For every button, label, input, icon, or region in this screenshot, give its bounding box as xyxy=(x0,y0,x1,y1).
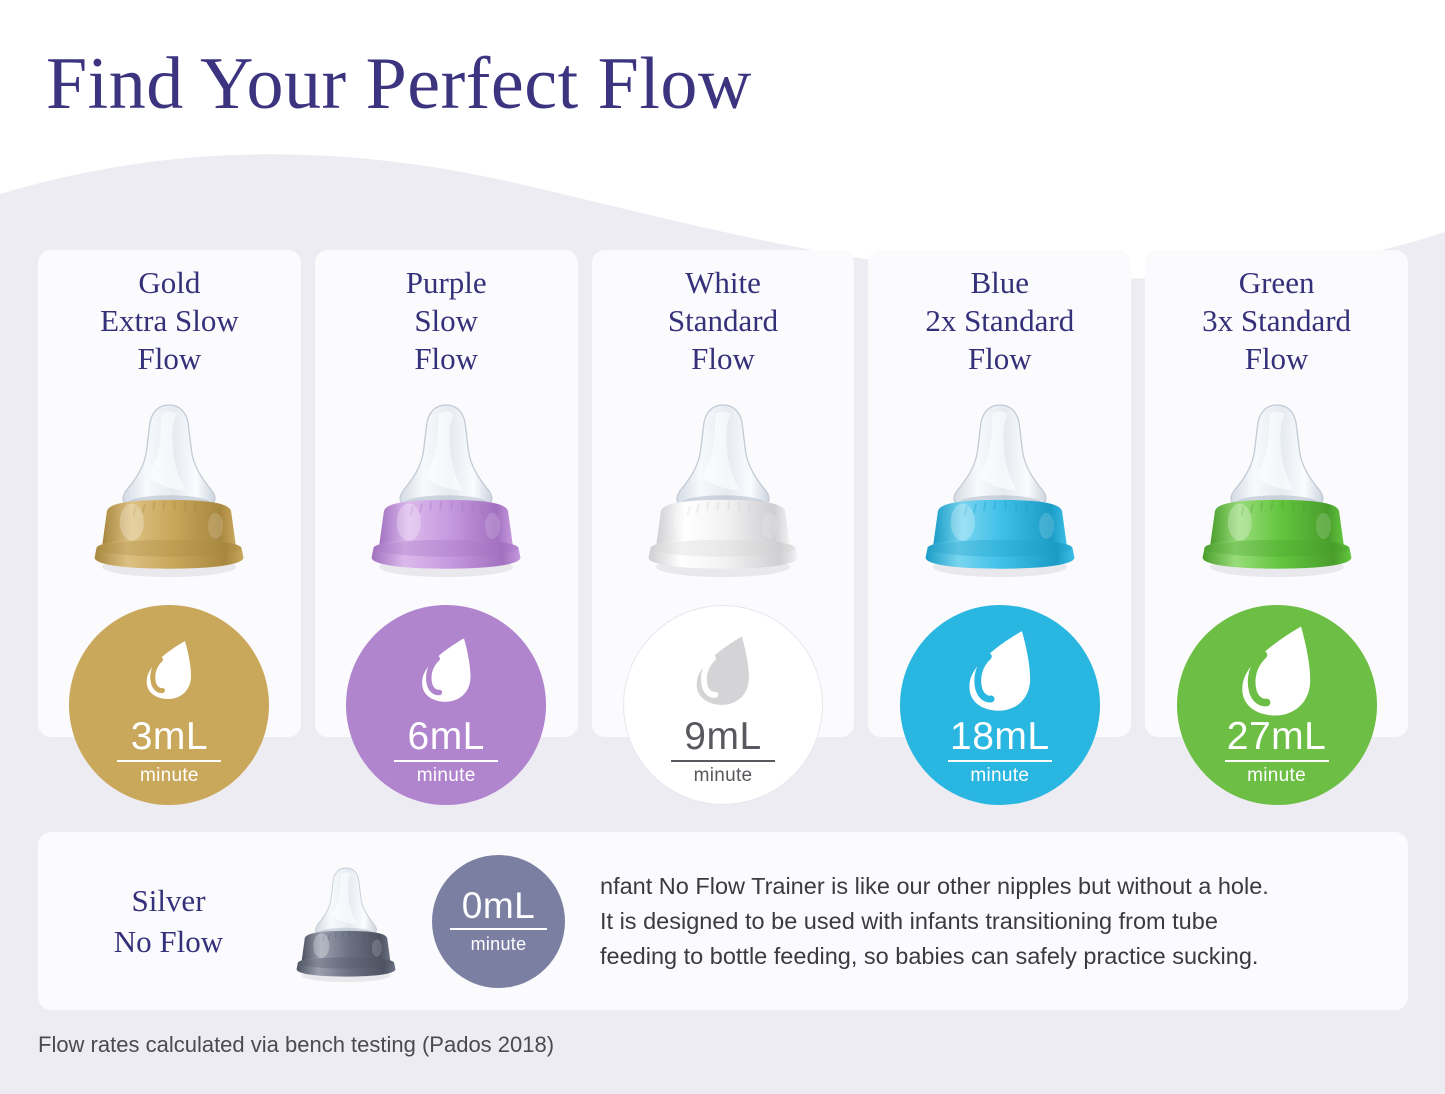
rate-value: 0mL xyxy=(462,887,535,925)
droplet-holder xyxy=(142,623,196,715)
flow-card-purple[interactable]: Purple Slow Flow xyxy=(315,250,578,737)
rate-badge: 3mLminute xyxy=(38,605,301,805)
rate-badge: 27mLminute xyxy=(1145,605,1408,805)
nipple-image-wrap xyxy=(315,390,578,580)
nipple-image xyxy=(76,390,262,580)
footnote: Flow rates calculated via bench testing … xyxy=(38,1032,554,1058)
silver-label: Silver No Flow xyxy=(66,880,271,962)
droplet-icon xyxy=(417,635,476,703)
flow-card-title: Gold Extra Slow Flow xyxy=(100,264,239,378)
rate-value: 27mL xyxy=(1227,717,1327,757)
nipple-image xyxy=(630,390,816,580)
nipple-image xyxy=(353,390,539,580)
flow-card-title: Purple Slow Flow xyxy=(406,264,487,378)
flow-card-gold[interactable]: Gold Extra Slow Flow xyxy=(38,250,301,737)
rate-badge: 6mLminute xyxy=(315,605,578,805)
flow-card-blue[interactable]: Blue 2x Standard Flow xyxy=(868,250,1131,737)
rate-value: 6mL xyxy=(408,717,485,757)
rate-circle-silver: 0mL minute xyxy=(432,855,565,988)
droplet-icon xyxy=(142,638,196,700)
nipple-image xyxy=(284,858,408,984)
rate-value: 9mL xyxy=(684,717,761,757)
droplet-holder xyxy=(691,623,755,715)
rate-divider xyxy=(117,760,221,762)
droplet-holder xyxy=(1235,623,1318,715)
nipple-image-wrap xyxy=(1145,390,1408,580)
nipple-image xyxy=(1184,390,1370,580)
droplet-holder xyxy=(963,623,1037,715)
rate-divider xyxy=(1225,760,1329,762)
rate-divider xyxy=(671,760,775,762)
rate-circle-purple: 6mLminute xyxy=(346,605,546,805)
flow-cards-row: Gold Extra Slow Flow xyxy=(38,250,1408,737)
rate-circle-green: 27mLminute xyxy=(1177,605,1377,805)
flow-card-title: Blue 2x Standard Flow xyxy=(925,264,1074,378)
no-flow-panel: Silver No Flow xyxy=(38,832,1408,1010)
silver-rate-badge: 0mL minute xyxy=(421,855,576,988)
rate-circle-gold: 3mLminute xyxy=(69,605,269,805)
nipple-image-wrap xyxy=(38,390,301,580)
rate-unit: minute xyxy=(417,765,476,787)
rate-divider xyxy=(394,760,498,762)
nipple-image-wrap xyxy=(868,390,1131,580)
rate-value: 3mL xyxy=(131,717,208,757)
rate-unit: minute xyxy=(970,765,1029,787)
rate-circle-white: 9mLminute xyxy=(623,605,823,805)
flow-card-white[interactable]: White Standard Flow xyxy=(592,250,855,737)
rate-divider xyxy=(450,928,547,930)
silver-nipple-image xyxy=(271,858,421,984)
flow-card-title: Green 3x Standard Flow xyxy=(1202,264,1351,378)
rate-value: 18mL xyxy=(950,717,1050,757)
rate-unit: minute xyxy=(471,933,527,955)
rate-unit: minute xyxy=(140,765,199,787)
rate-badge: 9mLminute xyxy=(592,605,855,805)
rate-circle-blue: 18mLminute xyxy=(900,605,1100,805)
flow-card-green[interactable]: Green 3x Standard Flow xyxy=(1145,250,1408,737)
no-flow-description: nfant No Flow Trainer is like our other … xyxy=(600,869,1378,974)
droplet-holder xyxy=(417,623,476,715)
rate-unit: minute xyxy=(694,765,753,787)
droplet-icon xyxy=(691,633,755,706)
rate-badge: 18mLminute xyxy=(868,605,1131,805)
flow-card-title: White Standard Flow xyxy=(668,264,778,378)
nipple-image-wrap xyxy=(592,390,855,580)
nipple-image xyxy=(907,390,1093,580)
page-title: Find Your Perfect Flow xyxy=(46,42,752,127)
rate-divider xyxy=(948,760,1052,762)
droplet-icon xyxy=(963,627,1037,712)
rate-unit: minute xyxy=(1247,765,1306,787)
droplet-icon xyxy=(1235,622,1318,717)
